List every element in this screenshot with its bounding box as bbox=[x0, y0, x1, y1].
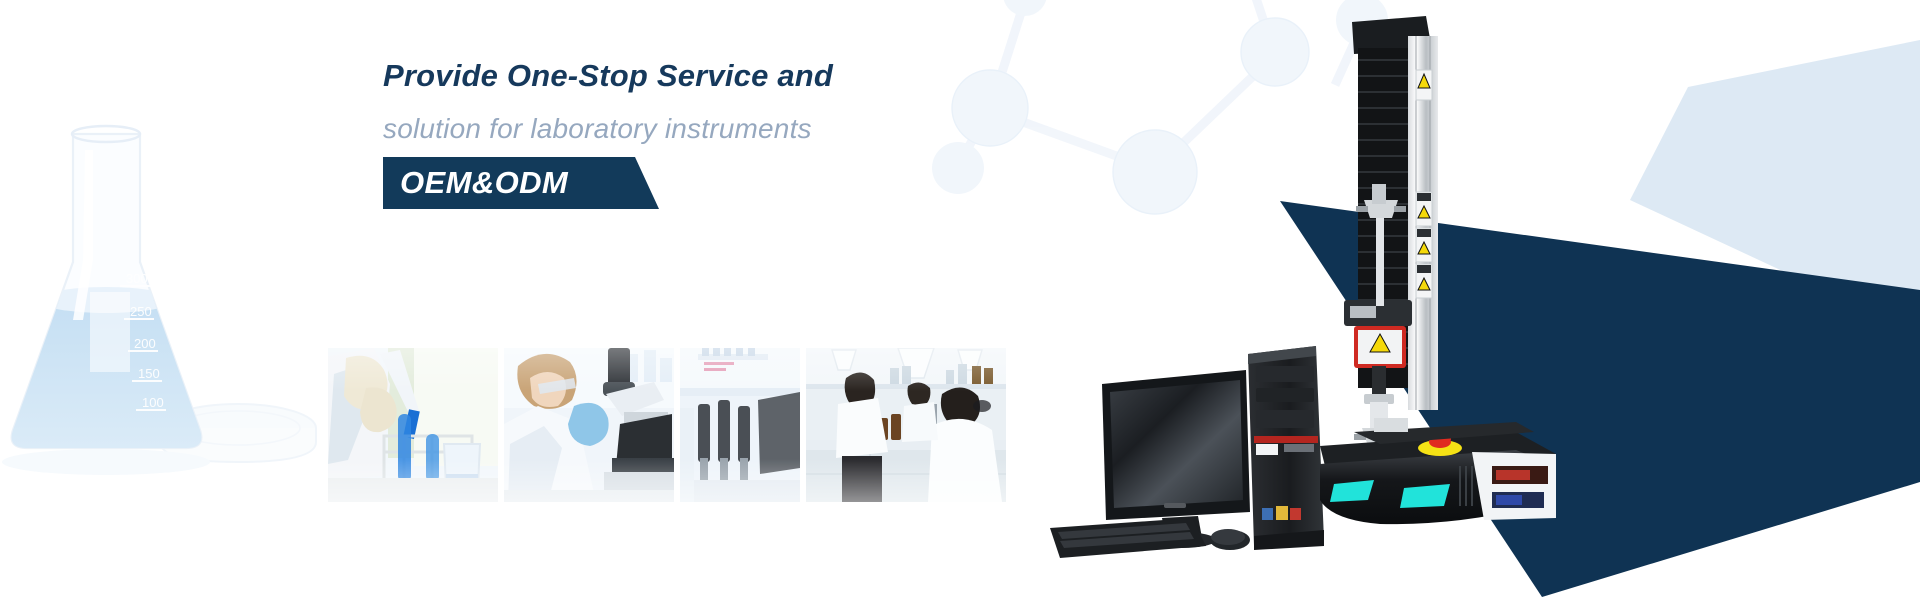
badge-label: OEM&ODM bbox=[383, 157, 614, 209]
desktop-computer bbox=[1040, 340, 1360, 570]
machine-warning-label bbox=[1416, 228, 1432, 262]
machine-crosshead bbox=[1344, 300, 1412, 368]
universal-testing-machine bbox=[1320, 14, 1610, 539]
computer-monitor bbox=[1102, 370, 1250, 548]
computer-mouse bbox=[1210, 529, 1250, 550]
headline-block: Provide One-Stop Service and solution fo… bbox=[383, 60, 1143, 209]
headline-line-1: Provide One-Stop Service and bbox=[383, 60, 1143, 93]
machine-warning-label bbox=[1416, 192, 1432, 226]
machine-bellows bbox=[1358, 48, 1408, 388]
machine-upper-grip bbox=[1354, 366, 1404, 462]
photo-lab-team bbox=[806, 348, 1006, 502]
machine-lower-grip bbox=[1356, 184, 1406, 218]
machine-warning-label bbox=[1416, 70, 1432, 100]
computer-tower bbox=[1248, 346, 1324, 550]
machine-side-panel bbox=[1472, 452, 1556, 520]
hero-banner: 300 250 200 150 100 Provide One-Stop Ser… bbox=[0, 0, 1920, 597]
svg-text:200: 200 bbox=[134, 336, 156, 351]
light-blue-arrow bbox=[1630, 40, 1920, 335]
svg-text:300: 300 bbox=[126, 271, 148, 286]
petri-dish bbox=[160, 404, 316, 462]
photo-microscope bbox=[504, 348, 674, 502]
photo-fade-overlay bbox=[806, 348, 1006, 502]
dark-navy-arrow bbox=[1280, 201, 1920, 597]
headline-line-2: solution for laboratory instruments bbox=[383, 114, 1143, 143]
dark-navy-arrow-main bbox=[1280, 201, 1920, 597]
machine-emergency-stop bbox=[1418, 434, 1462, 456]
svg-text:250: 250 bbox=[130, 304, 152, 319]
photo-fade-overlay bbox=[680, 348, 800, 502]
machine-load-cell bbox=[1354, 326, 1406, 368]
photo-fade-overlay bbox=[504, 348, 674, 502]
oem-odm-badge: OEM&ODM bbox=[383, 157, 614, 209]
svg-text:100: 100 bbox=[142, 395, 164, 410]
photo-strip bbox=[328, 348, 1006, 502]
flask-graduations: 300 250 200 150 100 bbox=[120, 271, 166, 410]
angular-accent-shapes bbox=[1280, 0, 1920, 597]
machine-warning-label bbox=[1416, 264, 1432, 298]
flask-illustration: 300 250 200 150 100 bbox=[0, 110, 320, 550]
svg-text:150: 150 bbox=[138, 366, 160, 381]
machine-top-cap bbox=[1352, 16, 1432, 54]
computer-keyboard bbox=[1050, 518, 1206, 558]
monitor-screen bbox=[1110, 380, 1243, 508]
machine-column bbox=[1408, 36, 1438, 410]
machine-base-console bbox=[1320, 418, 1556, 524]
photo-instrument-closeup bbox=[680, 348, 800, 502]
machine-accent-light bbox=[1400, 484, 1450, 508]
photo-pipetting bbox=[328, 348, 498, 502]
machine-accent-light bbox=[1330, 480, 1374, 502]
erlenmeyer-flask bbox=[0, 126, 320, 460]
photo-fade-overlay bbox=[328, 348, 498, 502]
